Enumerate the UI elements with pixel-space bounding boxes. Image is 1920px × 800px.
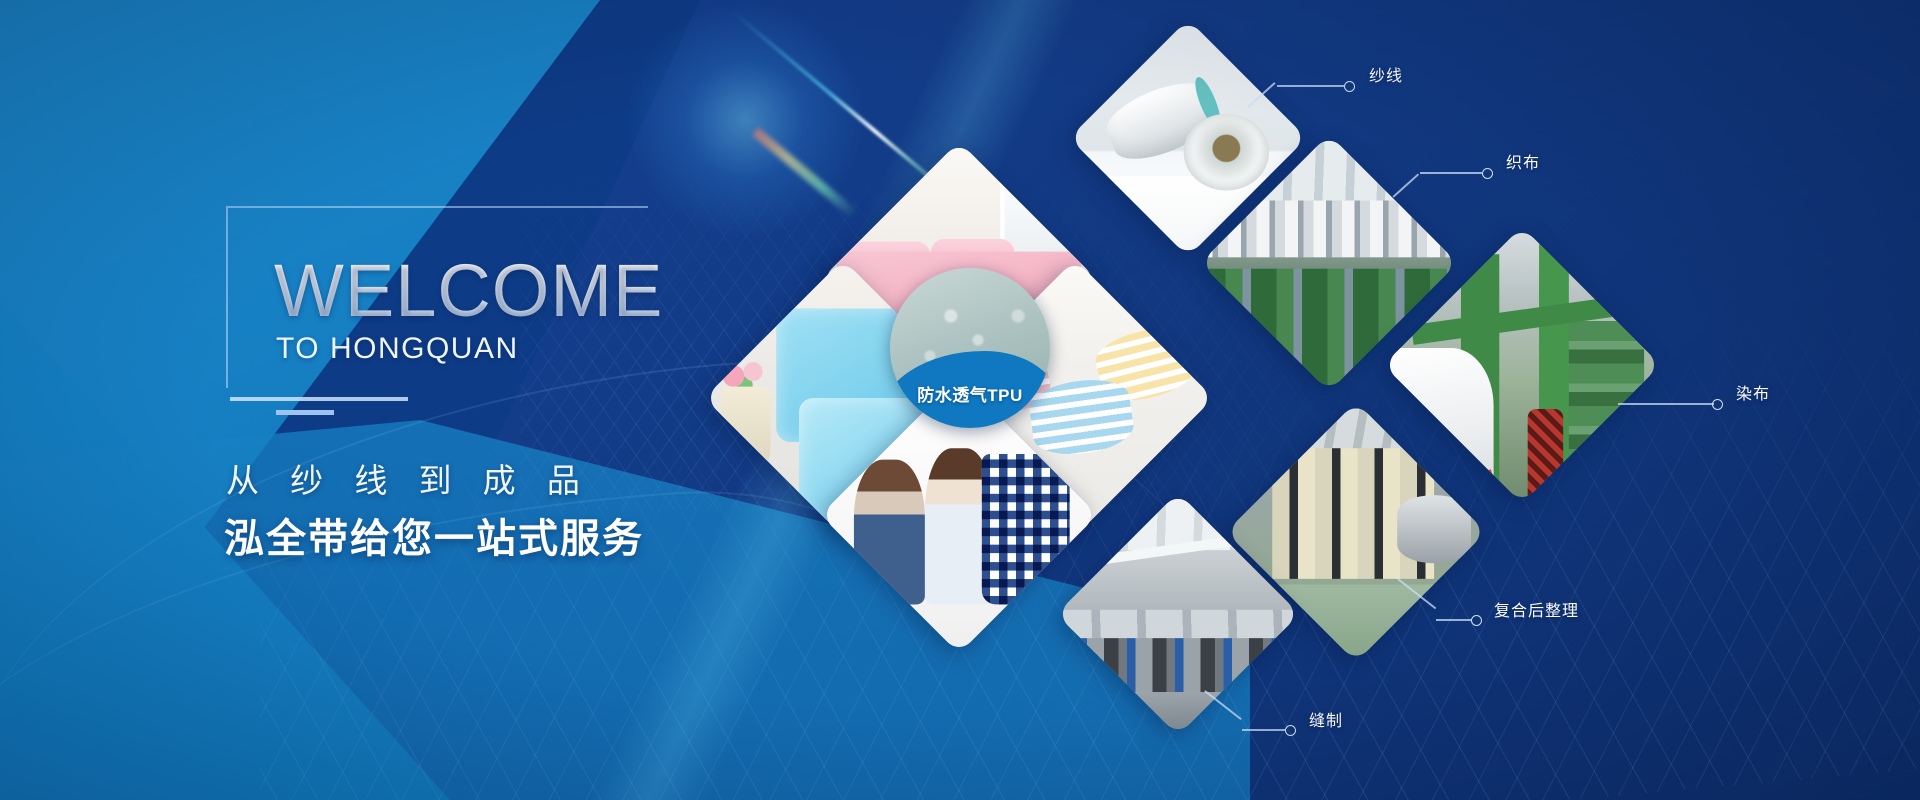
- tpu-badge[interactable]: 防水透气TPU: [890, 268, 1050, 428]
- callout-leader-line: [1277, 85, 1344, 87]
- callout-label-laminating: 复合后整理: [1494, 597, 1579, 621]
- diamond-collage: 防水透气TPU: [0, 0, 1920, 800]
- callout-label-sewing: 缝制: [1309, 707, 1343, 731]
- callout-leader-line: [1242, 729, 1286, 731]
- callout-dot: [1471, 615, 1482, 626]
- callout-dot: [1482, 168, 1493, 179]
- callout-label-yarn: 纱线: [1369, 62, 1403, 86]
- callout-dot: [1344, 81, 1355, 92]
- callout-leader-line: [1618, 403, 1714, 405]
- callout-dot: [1712, 399, 1723, 410]
- callout-label-dyeing: 染布: [1736, 380, 1770, 404]
- callout-leader-diagonal: [1392, 173, 1418, 197]
- hero-banner: WELCOME TO HONGQUAN 从 纱 线 到 成 品 泓全带给您一站式…: [0, 0, 1920, 800]
- callout-leader-line: [1436, 619, 1472, 621]
- callout-dot: [1285, 725, 1296, 736]
- tpu-badge-label: 防水透气TPU: [890, 381, 1050, 406]
- callout-leader-line: [1420, 172, 1482, 174]
- callout-label-weaving: 织布: [1506, 149, 1540, 173]
